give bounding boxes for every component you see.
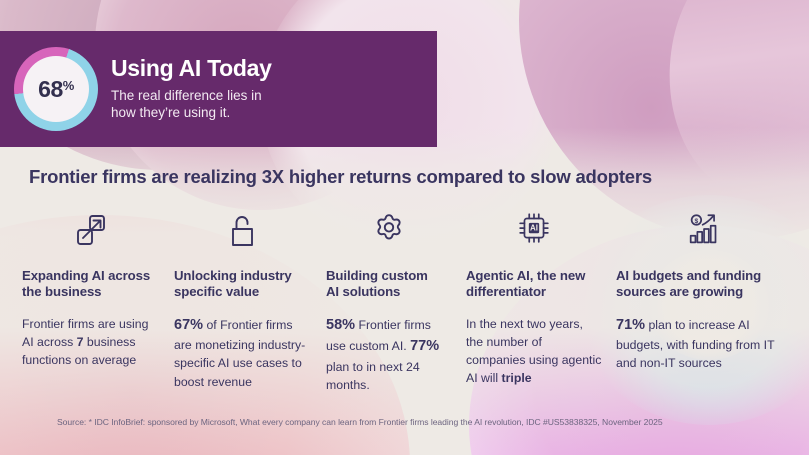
stat-column-title: Agentic AI, the new differentiator bbox=[466, 268, 602, 301]
stat-column-body: Frontier firms are using AI across 7 bus… bbox=[22, 315, 160, 370]
banner-text-block: Using AI Today The real difference lies … bbox=[111, 56, 272, 122]
stat-column-title-line-1: Agentic AI, the new bbox=[466, 268, 602, 284]
stat-column-body: 71% plan to increase AI budgets, with fu… bbox=[616, 315, 794, 373]
svg-text:AI: AI bbox=[530, 224, 538, 233]
stat-column-body: 58% Frontier firms use custom AI. 77% pl… bbox=[326, 315, 452, 394]
stat-column-body: 67% of Frontier firms are monetizing ind… bbox=[174, 315, 312, 391]
stat-value: 67% bbox=[174, 317, 203, 333]
donut-chart: 68 % bbox=[14, 47, 98, 131]
stat-column-title-line-1: Building custom bbox=[326, 268, 452, 284]
stat-value: 58% bbox=[326, 317, 355, 333]
stat-column-title: Expanding AI across the business bbox=[22, 268, 160, 301]
stat-column-title-line-2: specific value bbox=[174, 284, 312, 300]
stat-value: 77% bbox=[410, 338, 439, 354]
expand-arrow-icon bbox=[22, 206, 160, 254]
growth-chart-icon: $ bbox=[616, 206, 794, 254]
stat-column-ai-budgets: $ AI budgets and funding sources are gro… bbox=[616, 206, 794, 394]
banner-subtitle-line-2: how they’re using it. bbox=[111, 104, 272, 122]
stat-value: 71% bbox=[616, 317, 645, 333]
stat-column-title: AI budgets and funding sources are growi… bbox=[616, 268, 794, 301]
page-headline: Frontier firms are realizing 3X higher r… bbox=[29, 166, 652, 188]
header-banner: 68 % Using AI Today The real difference … bbox=[0, 31, 437, 147]
stat-column-title-line-1: Unlocking industry bbox=[174, 268, 312, 284]
source-citation: Source: * IDC InfoBrief: sponsored by Mi… bbox=[57, 417, 663, 427]
stat-column-body: In the next two years, the number of com… bbox=[466, 315, 602, 388]
banner-subtitle-line-1: The real difference lies in bbox=[111, 87, 272, 105]
body-text: In the next two years, the number of com… bbox=[466, 317, 601, 386]
stat-column-title-line-2: the business bbox=[22, 284, 160, 300]
body-emphasis: 7 bbox=[77, 335, 84, 349]
stat-column-unlocking-value: Unlocking industry specific value 67% of… bbox=[174, 206, 326, 394]
stat-column-title: Unlocking industry specific value bbox=[174, 268, 312, 301]
donut-label: 68 % bbox=[38, 78, 74, 101]
stat-column-custom-ai: Building custom AI solutions 58% Frontie… bbox=[326, 206, 466, 394]
stat-column-title-line-2: sources are growing bbox=[616, 284, 794, 300]
donut-number: 68 bbox=[38, 78, 63, 101]
stat-columns: Expanding AI across the business Frontie… bbox=[22, 206, 794, 394]
stat-column-title-line-1: Expanding AI across bbox=[22, 268, 160, 284]
infographic-slide: 68 % Using AI Today The real difference … bbox=[0, 0, 809, 455]
stat-column-title: Building custom AI solutions bbox=[326, 268, 452, 301]
unlocked-padlock-icon bbox=[174, 206, 312, 254]
stat-column-agentic-ai: AI Agentic AI, the new differentiator In… bbox=[466, 206, 616, 394]
donut-center: 68 % bbox=[23, 56, 89, 122]
body-emphasis: triple bbox=[502, 371, 532, 385]
stat-column-expanding-ai: Expanding AI across the business Frontie… bbox=[22, 206, 174, 394]
banner-subtitle: The real difference lies in how they’re … bbox=[111, 87, 272, 123]
banner-title: Using AI Today bbox=[111, 56, 272, 82]
body-text: plan to in next 24 months. bbox=[326, 360, 420, 392]
gear-icon bbox=[326, 206, 452, 254]
stat-column-title-line-2: differentiator bbox=[466, 284, 602, 300]
svg-text:$: $ bbox=[695, 218, 699, 225]
ai-chip-icon: AI bbox=[466, 206, 602, 254]
donut-percent-sign: % bbox=[63, 79, 74, 92]
stat-column-title-line-1: AI budgets and funding bbox=[616, 268, 794, 284]
stat-column-title-line-2: AI solutions bbox=[326, 284, 452, 300]
